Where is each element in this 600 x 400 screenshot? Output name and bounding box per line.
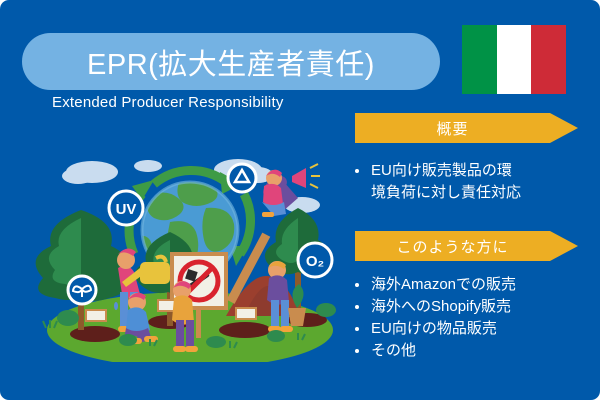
uv-badge-icon: UV — [109, 191, 143, 225]
flag-stripe-green — [462, 25, 497, 94]
overview-bullet-list: EU向け販売製品の環 境負荷に対し責任対応 — [352, 160, 562, 204]
epr-info-card: EPR(拡大生産者責任) Extended Producer Responsib… — [0, 0, 600, 400]
flag-stripe-red — [531, 25, 566, 94]
megaphone-icon — [292, 164, 320, 188]
banner-label: 概要 — [436, 118, 468, 139]
page-subtitle: Extended Producer Responsibility — [52, 94, 284, 111]
banner-label: このような方に — [396, 236, 508, 257]
banner-arrow-tip — [550, 231, 578, 261]
banner-arrow-tip — [550, 113, 578, 143]
seedling-badge-icon — [68, 276, 96, 304]
recycle-badge-icon — [228, 164, 256, 192]
title-pill: EPR(拡大生産者責任) — [22, 33, 440, 90]
page-title: EPR(拡大生産者責任) — [87, 41, 375, 83]
section-banner-audience: このような方に — [355, 231, 578, 261]
o2-badge-icon: O₂ — [298, 243, 332, 277]
italy-flag-icon — [462, 25, 566, 94]
section-banner-overview: 概要 — [355, 113, 578, 143]
flag-stripe-white — [497, 25, 532, 94]
list-item: EU向け販売製品の環 境負荷に対し責任対応 — [352, 160, 562, 204]
list-item: 海外Amazonでの販売 — [352, 274, 567, 296]
svg-text:UV: UV — [116, 201, 137, 218]
svg-text:O₂: O₂ — [306, 253, 324, 270]
list-item: その他 — [352, 340, 567, 362]
audience-bullet-list: 海外Amazonでの販売 海外へのShopify販売 EU向けの物品販売 その他 — [352, 274, 567, 362]
list-item: 海外へのShopify販売 — [352, 296, 567, 318]
reforestation-illustration: UV O₂ — [30, 150, 350, 362]
list-item: EU向けの物品販売 — [352, 318, 567, 340]
